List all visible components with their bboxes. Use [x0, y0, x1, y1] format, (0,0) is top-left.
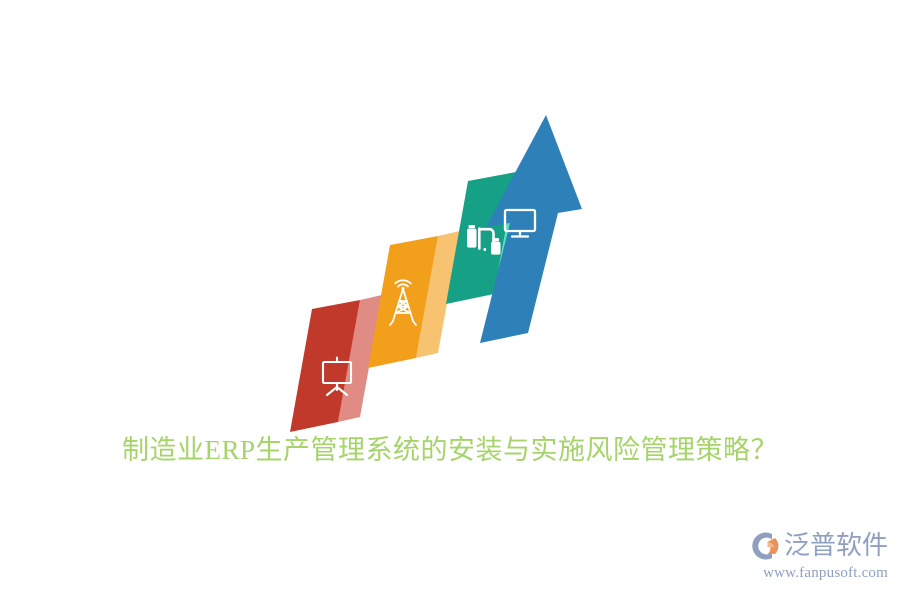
watermark-brand-name: 泛普软件 [784, 531, 888, 561]
fanpu-logo-mark-icon [748, 531, 782, 561]
ascending-step-arrow-infographic [290, 85, 610, 435]
page-canvas: 制造业ERP生产管理系统的安装与实施风险管理策略？ 泛普软件 www.fanpu… [0, 0, 900, 600]
watermark-url: www.fanpusoft.com [748, 564, 888, 582]
watermark-logo: 泛普软件 www.fanpusoft.com [748, 528, 888, 588]
watermark-brand-row: 泛普软件 [748, 528, 888, 564]
page-title: 制造业ERP生产管理系统的安装与实施风险管理策略？ [0, 430, 900, 470]
